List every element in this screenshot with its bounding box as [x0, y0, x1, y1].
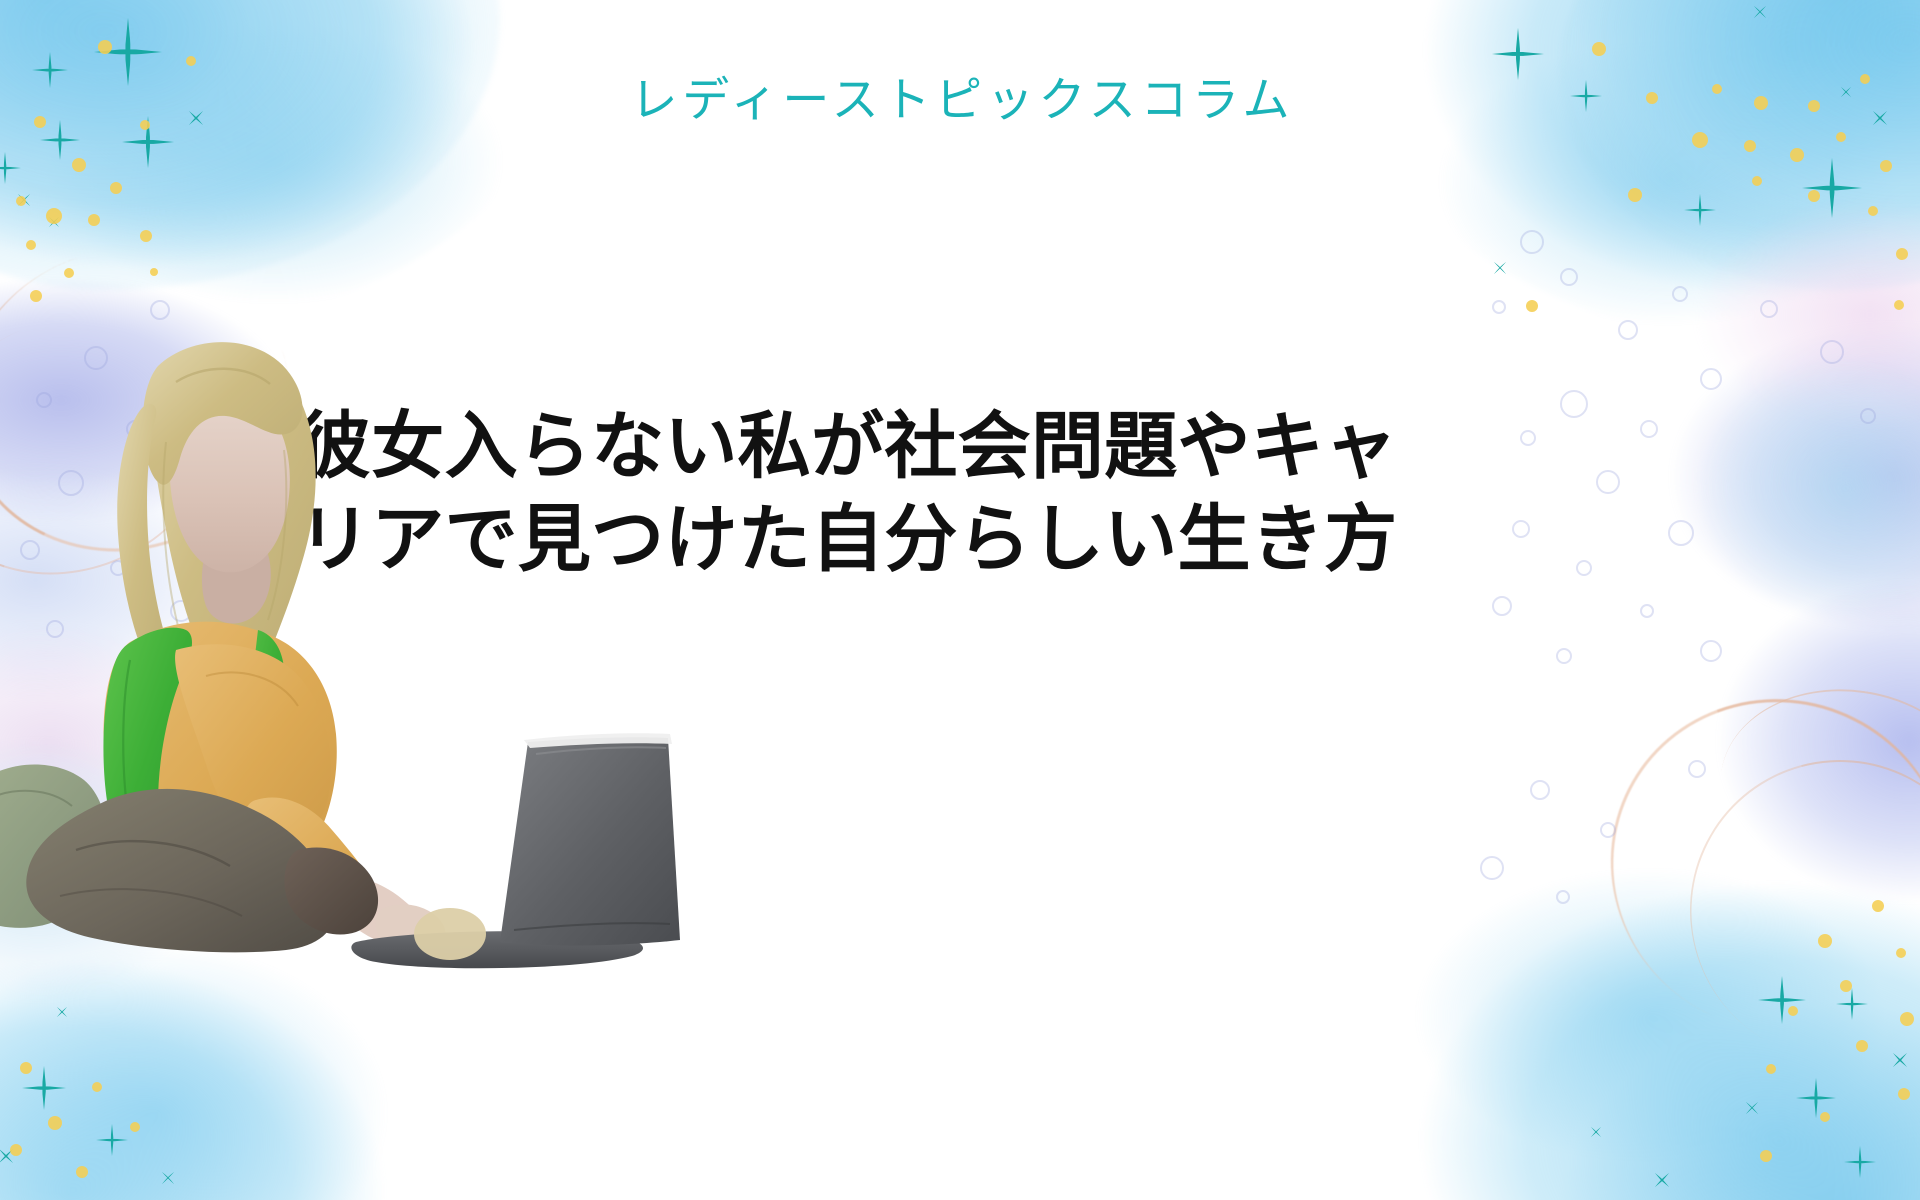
gold-dot [1900, 1012, 1914, 1026]
gold-dot [76, 1166, 88, 1178]
star-sparkle [1488, 256, 1512, 280]
watercolor-wash-top-right-soft [1560, 0, 1920, 290]
gold-dot [1836, 132, 1846, 142]
bubble-ring [1520, 230, 1544, 254]
gold-dot [1894, 300, 1904, 310]
bubble-ring [1700, 368, 1722, 390]
star-sparkle [1586, 1122, 1606, 1142]
gold-dot [20, 1062, 32, 1074]
gold-dot [1898, 1088, 1910, 1100]
star-sparkle [1740, 1096, 1764, 1120]
star-sparkle [12, 188, 36, 212]
star-sparkle [1492, 28, 1544, 80]
gold-dot [1818, 934, 1832, 948]
star-sparkle [1758, 976, 1806, 1024]
ink-blob-right-pink [1660, 170, 1920, 460]
gold-dot [1808, 190, 1820, 202]
gold-dot [88, 214, 100, 226]
gold-dot [1526, 300, 1538, 312]
bubble-ring [150, 300, 170, 320]
bubble-ring [1480, 856, 1504, 880]
gold-dot [130, 1122, 140, 1132]
gold-dot [1766, 1064, 1776, 1074]
gold-dot [110, 182, 122, 194]
bubble-ring [1492, 300, 1506, 314]
watercolor-wash-bottom-right [1330, 830, 1920, 1200]
gold-dot [1880, 160, 1892, 172]
watercolor-wash-top-left-soft [0, 0, 500, 290]
star-sparkle [96, 1124, 128, 1156]
illustration-woman-with-laptop [0, 330, 700, 970]
gold-dot [16, 196, 26, 206]
star-sparkle [1648, 1166, 1676, 1194]
gold-dot [98, 40, 112, 54]
gold-dot [1856, 1040, 1868, 1052]
bubble-ring [1860, 408, 1876, 424]
star-sparkle [0, 152, 21, 184]
star-sparkle [44, 212, 64, 232]
bubble-ring [1530, 780, 1550, 800]
kicker-label: レディーストピックスコラム [0, 74, 1920, 126]
bubble-ring [1760, 300, 1778, 318]
gold-dot [1840, 980, 1852, 992]
bubble-ring [1600, 822, 1616, 838]
watercolor-wash-top-left [0, 0, 570, 330]
gold-dot [48, 1116, 62, 1130]
ink-blob-right-indigo [1640, 540, 1920, 960]
ink-blob-right-violet [1580, 250, 1920, 670]
rose-gold-glitter-line-right-3 [1707, 673, 1920, 907]
star-sparkle [40, 120, 80, 160]
gold-dot [1592, 42, 1606, 56]
gold-dot [26, 240, 36, 250]
bubble-ring [1820, 340, 1844, 364]
gold-dot [1752, 176, 1762, 186]
bubble-ring [1556, 890, 1570, 904]
gold-dot [1760, 1150, 1772, 1162]
bubble-ring [1668, 520, 1694, 546]
rose-gold-glitter-line-right-2 [1635, 705, 1920, 1115]
gold-dot [10, 1144, 22, 1156]
gold-dot [92, 1082, 102, 1092]
star-sparkle [1802, 158, 1862, 218]
gold-dot [1820, 1112, 1830, 1122]
star-sparkle [1886, 1046, 1914, 1074]
bubble-ring [1640, 604, 1654, 618]
bubble-ring [1576, 560, 1592, 576]
bubble-ring [1618, 320, 1638, 340]
gold-dot [46, 208, 62, 224]
bubble-ring [1596, 470, 1620, 494]
bubble-ring [1556, 648, 1572, 664]
bubble-ring [1700, 640, 1722, 662]
star-sparkle [1844, 1146, 1876, 1178]
ink-blob-right-cyan [1680, 330, 1920, 660]
gold-dot [30, 290, 42, 302]
star-sparkle [52, 1002, 72, 1022]
watercolor-wash-top-right [1340, 0, 1920, 350]
gold-dot [186, 56, 196, 66]
bubble-ring [1560, 268, 1578, 286]
gold-dot [1896, 248, 1908, 260]
star-sparkle [1748, 0, 1772, 24]
gold-dot [1872, 900, 1884, 912]
gold-dot [140, 230, 152, 242]
illus-round-object [414, 908, 486, 960]
bubble-ring [1520, 430, 1536, 446]
star-sparkle [22, 1066, 66, 1110]
star-sparkle [1684, 194, 1716, 226]
bubble-ring [1672, 286, 1688, 302]
star-sparkle [1836, 988, 1868, 1020]
gold-dot [1788, 1006, 1798, 1016]
gold-dot [1868, 206, 1878, 216]
illus-laptop-lid [500, 737, 680, 945]
gold-dot [1896, 948, 1906, 958]
gold-dot [150, 268, 158, 276]
bubble-ring [1640, 420, 1658, 438]
gold-dot [64, 268, 74, 278]
rose-gold-glitter-line-right-1 [1558, 645, 1920, 1085]
gold-dot [72, 158, 86, 172]
star-sparkle [0, 1142, 20, 1170]
bubble-ring [1492, 596, 1512, 616]
bubble-ring [1560, 390, 1588, 418]
bubble-ring [1512, 520, 1530, 538]
star-sparkle [156, 1166, 180, 1190]
gold-dot [1744, 140, 1756, 152]
gold-dot [1628, 188, 1642, 202]
gold-dot [1790, 148, 1804, 162]
bubble-ring [1688, 760, 1706, 778]
eyecatch-card: レディーストピックスコラム 彼女入らない私が社会問題やキャ リアで見つけた自分ら… [0, 0, 1920, 1200]
star-sparkle [1796, 1078, 1836, 1118]
gold-dot [1692, 132, 1708, 148]
